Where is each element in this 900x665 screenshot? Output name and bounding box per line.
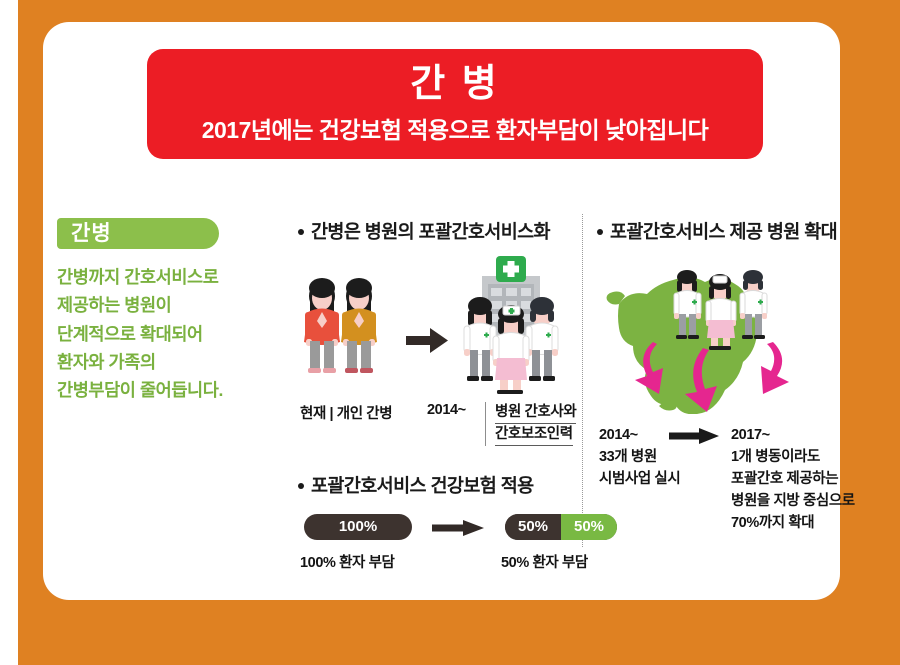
timeline-left-line: 시범사업 실시 — [599, 471, 680, 487]
middle-column: 간병은 병원의 포괄간호서비스화 — [298, 218, 570, 573]
banner-title: 간 병 — [147, 49, 763, 103]
cost-bars-row: 100% 50% 50% — [298, 512, 570, 546]
middle-section2-heading: 포괄간호서비스 건강보험 적용 — [298, 472, 570, 498]
middle-section1-heading-text: 간병은 병원의 포괄간호서비스화 — [311, 221, 550, 242]
transition-arrow-icon — [406, 328, 448, 353]
timeline-right-line: 병원을 지방 중심으로 — [731, 493, 855, 509]
timeline-right-line: 70%까지 확대 — [731, 515, 814, 531]
timeline-left-line: 33개 병원 — [599, 449, 657, 465]
bar-after-patient-share: 50% — [505, 514, 561, 540]
bar-transition-arrow-icon — [432, 520, 488, 536]
left-description-line: 단계적으로 확대되어 — [57, 320, 272, 348]
timeline-right-year: 2017~ — [731, 427, 770, 443]
caption-detail-line1: 병원 간호사와 — [495, 402, 576, 424]
two-patients-figures — [304, 278, 340, 373]
left-description-line: 간병부담이 줄어듭니다. — [57, 376, 272, 404]
map-illustration — [597, 256, 847, 414]
bar-before-label: 100% 환자 부담 — [300, 551, 395, 572]
caption-detail: 병원 간호사와 간호보조인력 — [485, 402, 576, 446]
banner-subtitle: 2017년에는 건강보험 적용으로 환자부담이 낮아집니다 — [147, 103, 763, 142]
korea-map-with-medical-staff — [597, 256, 847, 414]
left-description-line: 간병까지 간호서비스로 — [57, 263, 272, 291]
left-column: 간병 간병까지 간호서비스로 제공하는 병원이 단계적으로 확대되어 환자와 가… — [57, 218, 272, 405]
column-divider — [582, 214, 583, 547]
left-description-line: 제공하는 병원이 — [57, 291, 272, 319]
timeline-arrow-icon — [669, 428, 723, 444]
bullet-icon — [298, 229, 304, 235]
timeline-left-year: 2014~ — [599, 427, 638, 443]
bar-after-insurance-share: 50% — [561, 514, 617, 540]
right-column: 포괄간호서비스 제공 병원 확대 — [597, 218, 847, 424]
patient-figure-2 — [341, 278, 377, 373]
hospital-with-nurses — [464, 256, 558, 394]
bullet-icon — [597, 229, 603, 235]
caption-year: 2014~ — [427, 402, 466, 418]
timeline-right: 2017~ 1개 병동이라도 포괄간호 제공하는 병원을 지방 중심으로 70%… — [731, 424, 855, 534]
bar-before-100: 100% — [304, 514, 412, 540]
middle-section1-heading: 간병은 병원의 포괄간호서비스화 — [298, 218, 570, 244]
care-transition-illustration — [298, 254, 570, 402]
bar-after-split: 50% 50% — [505, 514, 617, 540]
bullet-icon — [298, 483, 304, 489]
timeline-right-line: 포괄간호 제공하는 — [731, 471, 838, 487]
middle-illustration — [298, 254, 570, 402]
cost-bar-labels: 100% 환자 부담 50% 환자 부담 — [298, 551, 570, 573]
right-section-heading: 포괄간호서비스 제공 병원 확대 — [597, 218, 847, 244]
caption-detail-line2: 간호보조인력 — [495, 424, 573, 446]
left-section-tag: 간병 — [57, 218, 219, 249]
middle-caption-row: 현재 | 개인 간병 2014~ 병원 간호사와 간호보조인력 — [298, 402, 570, 446]
left-description: 간병까지 간호서비스로 제공하는 병원이 단계적으로 확대되어 환자와 가족의 … — [57, 263, 272, 405]
middle-section2-heading-text: 포괄간호서비스 건강보험 적용 — [311, 475, 534, 496]
infographic-canvas: 간 병 2017년에는 건강보험 적용으로 환자부담이 낮아집니다 간병 간병까… — [0, 0, 900, 665]
headline-banner: 간 병 2017년에는 건강보험 적용으로 환자부담이 낮아집니다 — [147, 49, 763, 159]
timeline-right-line: 1개 병동이라도 — [731, 449, 820, 465]
right-section-heading-text: 포괄간호서비스 제공 병원 확대 — [610, 221, 837, 242]
bar-after-label: 50% 환자 부담 — [501, 551, 588, 572]
caption-current: 현재 | 개인 간병 — [300, 402, 392, 423]
left-description-line: 환자와 가족의 — [57, 348, 272, 376]
